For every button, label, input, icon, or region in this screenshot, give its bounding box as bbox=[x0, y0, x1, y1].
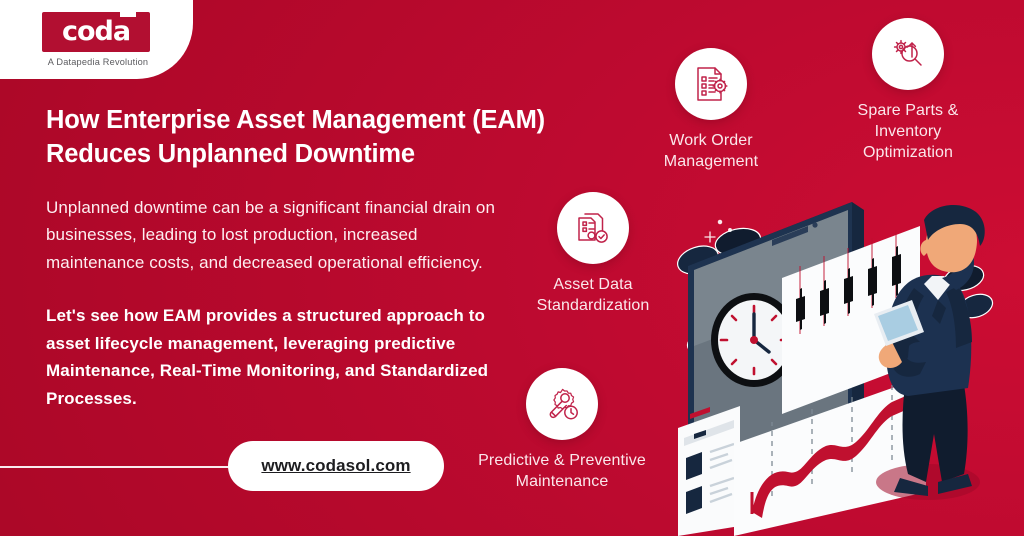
coda-logo[interactable]: coda A Datapedia Revolution bbox=[42, 12, 154, 67]
feature-label: Work Order Management bbox=[636, 130, 786, 172]
headline-line-1: How Enterprise Asset Management (EAM) bbox=[46, 106, 545, 134]
document-checklist-gear-icon bbox=[691, 64, 731, 104]
feature-label: Asset Data Standardization bbox=[512, 274, 674, 316]
brand-header-panel: coda A Datapedia Revolution bbox=[0, 0, 193, 79]
feature-work-order-management[interactable]: Work Order Management bbox=[636, 48, 786, 172]
checklist-panel bbox=[678, 406, 740, 536]
feature-spare-parts-inventory-optimization[interactable]: Spare Parts & Inventory Optimization bbox=[838, 18, 978, 163]
page-title: How Enterprise Asset Management (EAM) Re… bbox=[46, 104, 606, 172]
headline-line-2: Reduces Unplanned Downtime bbox=[46, 140, 415, 168]
logo-wordmark: coda bbox=[42, 12, 150, 52]
feature-predictive-preventive-maintenance[interactable]: Predictive & Preventive Maintenance bbox=[452, 368, 672, 492]
intro-paragraph: Unplanned downtime can be a significant … bbox=[46, 194, 506, 277]
isometric-dashboard-illustration bbox=[676, 196, 1024, 536]
infographic-canvas: coda A Datapedia Revolution How Enterpri… bbox=[0, 0, 1024, 536]
logo-tagline: A Datapedia Revolution bbox=[42, 57, 154, 67]
wrench-gear-clock-icon bbox=[542, 384, 582, 424]
website-url-button[interactable]: www.codasol.com bbox=[228, 441, 444, 491]
summary-paragraph: Let's see how EAM provides a structured … bbox=[46, 302, 516, 412]
feature-asset-data-standardization[interactable]: Asset Data Standardization bbox=[512, 192, 674, 316]
feature-icon-bubble bbox=[872, 18, 944, 90]
feature-label: Spare Parts & Inventory Optimization bbox=[838, 100, 978, 163]
illustration-svg bbox=[676, 196, 1024, 536]
feature-icon-bubble bbox=[526, 368, 598, 440]
gear-magnifier-arrow-icon bbox=[888, 34, 928, 74]
logo-mark: coda bbox=[42, 12, 150, 52]
feature-icon-bubble bbox=[557, 192, 629, 264]
feature-icon-bubble bbox=[675, 48, 747, 120]
divider-rule bbox=[0, 466, 258, 468]
documents-check-icon bbox=[573, 208, 613, 248]
feature-label: Predictive & Preventive Maintenance bbox=[452, 450, 672, 492]
